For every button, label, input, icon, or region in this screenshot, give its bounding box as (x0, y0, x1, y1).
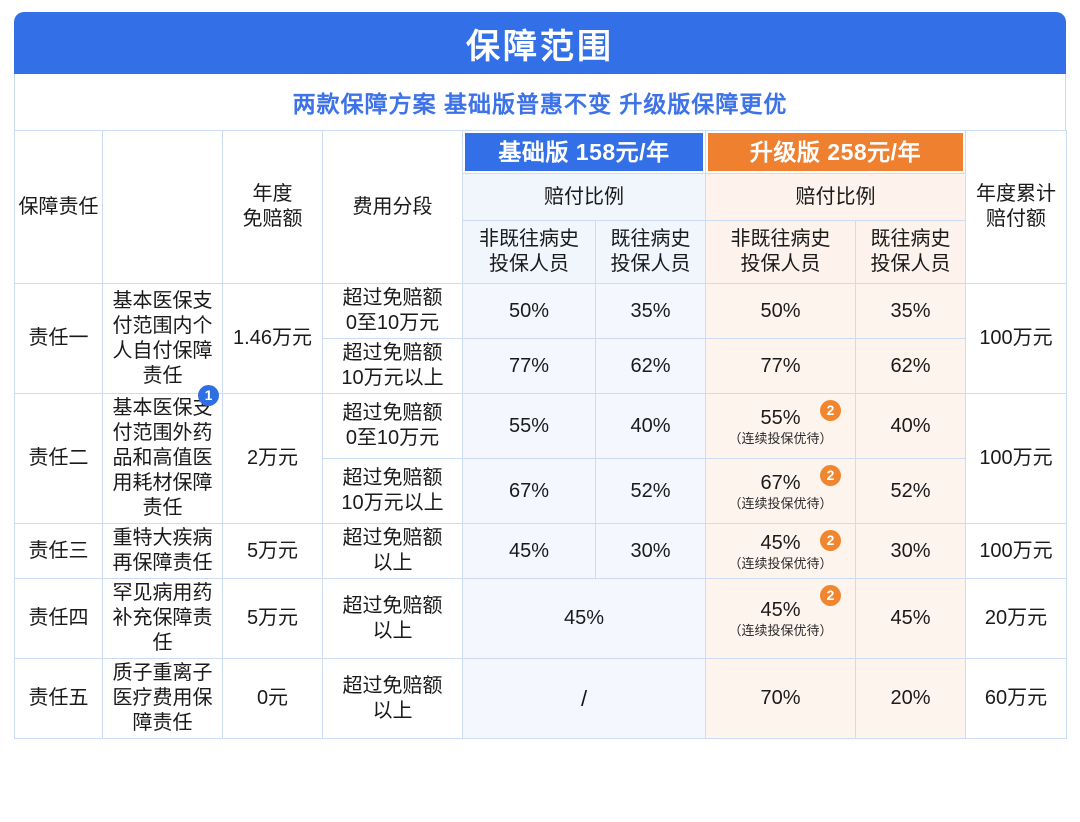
annual-deductible: 0元 (223, 659, 323, 739)
upgrade-ratio-non-prior-value: 45% (760, 599, 800, 621)
fee-segment-line-2: 以上 (373, 552, 413, 574)
annual-deductible: 1.46万元 (223, 284, 323, 394)
upgrade-ratio-non-prior-value: 55% (760, 407, 800, 429)
fee-segment-line-2: 0至10万元 (346, 427, 439, 449)
responsibility-id: 责任一 (15, 284, 103, 394)
upgrade-ratio-non-prior-value: 70% (760, 687, 800, 709)
responsibility-name: 质子重离子医疗费用保障责任 (103, 659, 223, 739)
subcol-basic-non-prior: 非既往病史 投保人员 (463, 221, 596, 284)
basic-ratio-non-prior-value: 67% (509, 480, 549, 502)
page-title-bar: 保障范围 (14, 12, 1066, 74)
basic-ratio-prior: 35% (596, 284, 706, 339)
upgrade-ratio-non-prior-note: （连续投保优待） (708, 497, 853, 511)
fee-segment-line-2: 以上 (373, 700, 413, 722)
upgrade-ratio-prior-value: 30% (890, 540, 930, 562)
label-line-1: 既往病史 (611, 228, 691, 250)
upgrade-ratio-prior-value: 40% (890, 415, 930, 437)
upgrade-ratio-prior: 62% (856, 339, 966, 394)
upgrade-ratio-prior-value: 20% (890, 687, 930, 709)
coverage-page: 保障范围 两款保障方案 基础版普惠不变 升级版保障更优 保障责任 年度 免赔额 … (0, 12, 1080, 822)
upgrade-ratio-non-prior: 45%（连续投保优待）2 (706, 524, 856, 579)
label-line-2: 投保人员 (741, 253, 821, 275)
fee-segment: 超过免赔额10万元以上 (323, 459, 463, 524)
upgrade-ratio-non-prior-note: （连续投保优待） (708, 557, 853, 571)
fee-segment-line-2: 以上 (373, 620, 413, 642)
annual-total-line-2: 赔付额 (986, 208, 1046, 230)
fee-segment: 超过免赔额0至10万元 (323, 284, 463, 339)
fee-segment-line-1: 超过免赔额 (343, 287, 443, 309)
fee-segment: 超过免赔额10万元以上 (323, 339, 463, 394)
plan-basic-label: 基础版 158元/年 (498, 138, 669, 167)
fee-segment-line-1: 超过免赔额 (343, 402, 443, 424)
upgrade-ratio-prior: 20% (856, 659, 966, 739)
fee-segment: 超过免赔额以上 (323, 659, 463, 739)
fee-segment-line-2: 10万元以上 (341, 492, 443, 514)
basic-ratio-merged: / (463, 659, 706, 739)
upgrade-ratio-non-prior: 50% (706, 284, 856, 339)
footnote-badge-2-icon: 2 (820, 465, 841, 486)
basic-ratio-non-prior-value: 50% (509, 300, 549, 322)
table-body: 责任一基本医保支付范围内个人自付保障责任1.46万元超过免赔额0至10万元50%… (15, 284, 1067, 739)
fee-segment-line-1: 超过免赔额 (343, 675, 443, 697)
table-row: 责任四罕见病用药补充保障责任5万元超过免赔额以上45%45%（连续投保优待）24… (15, 579, 1067, 659)
basic-ratio-prior: 52% (596, 459, 706, 524)
upgrade-ratio-non-prior-note: （连续投保优待） (708, 432, 853, 446)
basic-ratio-merged-value: 45% (564, 607, 604, 629)
label-line-1: 非既往病史 (479, 228, 579, 250)
basic-ratio-prior: 40% (596, 394, 706, 459)
plan-header-upgrade: 升级版 258元/年 (706, 131, 966, 174)
upgrade-ratio-non-prior: 70% (706, 659, 856, 739)
label-line-2: 投保人员 (871, 253, 951, 275)
upgrade-ratio-prior: 45% (856, 579, 966, 659)
label-line-1: 既往病史 (871, 228, 951, 250)
upgrade-ratio-non-prior: 67%（连续投保优待）2 (706, 459, 856, 524)
page-subtitle: 两款保障方案 基础版普惠不变 升级版保障更优 (293, 85, 788, 119)
upgrade-ratio-non-prior-value: 45% (760, 532, 800, 554)
annual-deductible: 5万元 (223, 524, 323, 579)
fee-segment: 超过免赔额0至10万元 (323, 394, 463, 459)
col-header-deductible: 年度 免赔额 (223, 131, 323, 284)
annual-cumulative-payout: 20万元 (966, 579, 1067, 659)
annual-deductible: 2万元 (223, 394, 323, 524)
responsibility-name: 基本医保支付范围内个人自付保障责任 (103, 284, 223, 394)
subcol-upgrade-non-prior: 非既往病史 投保人员 (706, 221, 856, 284)
basic-ratio-prior: 62% (596, 339, 706, 394)
table-row: 责任三重特大疾病再保障责任5万元超过免赔额以上45%30%45%（连续投保优待）… (15, 524, 1067, 579)
upgrade-ratio-non-prior: 55%（连续投保优待）2 (706, 394, 856, 459)
basic-ratio-non-prior: 50% (463, 284, 596, 339)
label-line-1: 非既往病史 (731, 228, 831, 250)
plan-header-basic: 基础版 158元/年 (463, 131, 706, 174)
basic-ratio-prior-value: 52% (630, 480, 670, 502)
upgrade-ratio-prior-value: 52% (890, 480, 930, 502)
col-header-responsibility-name (103, 131, 223, 284)
fee-segment: 超过免赔额以上 (323, 524, 463, 579)
upgrade-ratio-prior: 30% (856, 524, 966, 579)
ratio-header-upgrade: 赔付比例 (706, 174, 966, 221)
upgrade-ratio-non-prior-value: 50% (760, 300, 800, 322)
annual-deductible: 5万元 (223, 579, 323, 659)
label-line-2: 投保人员 (611, 253, 691, 275)
upgrade-ratio-non-prior: 77% (706, 339, 856, 394)
responsibility-name-text: 重特大疾病再保障责任 (113, 527, 213, 574)
basic-ratio-prior: 30% (596, 524, 706, 579)
footnote-badge-2-icon: 2 (820, 400, 841, 421)
annual-cumulative-payout: 100万元 (966, 394, 1067, 524)
basic-ratio-prior-value: 62% (630, 355, 670, 377)
upgrade-ratio-non-prior-value: 77% (760, 355, 800, 377)
table-head: 保障责任 年度 免赔额 费用分段 基础版 158元/年 升级版 258元/年 年… (15, 131, 1067, 284)
responsibility-id: 责任二 (15, 394, 103, 524)
upgrade-ratio-prior-value: 35% (890, 300, 930, 322)
upgrade-ratio-non-prior: 45%（连续投保优待）2 (706, 579, 856, 659)
subcol-basic-prior: 既往病史 投保人员 (596, 221, 706, 284)
annual-cumulative-payout: 60万元 (966, 659, 1067, 739)
annual-cumulative-payout: 100万元 (966, 284, 1067, 394)
upgrade-ratio-prior: 35% (856, 284, 966, 339)
upgrade-ratio-non-prior-note: （连续投保优待） (708, 624, 853, 638)
responsibility-name: 重特大疾病再保障责任 (103, 524, 223, 579)
deductible-line-1: 年度 (253, 183, 293, 205)
annual-cumulative-payout: 100万元 (966, 524, 1067, 579)
responsibility-name-text: 基本医保支付范围外药品和高值医用耗材保障责任 (113, 397, 213, 519)
page-title: 保障范围 (466, 19, 614, 68)
upgrade-ratio-prior-value: 45% (890, 607, 930, 629)
basic-ratio-merged: 45% (463, 579, 706, 659)
annual-total-line-1: 年度累计 (976, 183, 1056, 205)
table-row: 责任二基本医保支付范围外药品和高值医用耗材保障责任12万元超过免赔额0至10万元… (15, 394, 1067, 459)
responsibility-id: 责任三 (15, 524, 103, 579)
footnote-badge-2-icon: 2 (820, 585, 841, 606)
upgrade-ratio-non-prior-value: 67% (760, 472, 800, 494)
col-header-annual-total: 年度累计 赔付额 (966, 131, 1067, 284)
responsibility-name-text: 质子重离子医疗费用保障责任 (113, 662, 213, 734)
fee-segment-line-2: 0至10万元 (346, 312, 439, 334)
responsibility-name-text: 基本医保支付范围内个人自付保障责任 (113, 290, 213, 387)
basic-ratio-non-prior: 77% (463, 339, 596, 394)
basic-ratio-prior-value: 35% (630, 300, 670, 322)
responsibility-name: 基本医保支付范围外药品和高值医用耗材保障责任1 (103, 394, 223, 524)
col-header-responsibility: 保障责任 (15, 131, 103, 284)
subtitle-bar: 两款保障方案 基础版普惠不变 升级版保障更优 (14, 74, 1066, 130)
table-row: 责任一基本医保支付范围内个人自付保障责任1.46万元超过免赔额0至10万元50%… (15, 284, 1067, 339)
basic-ratio-non-prior: 45% (463, 524, 596, 579)
upgrade-ratio-prior: 52% (856, 459, 966, 524)
subcol-upgrade-prior: 既往病史 投保人员 (856, 221, 966, 284)
fee-segment-line-1: 超过免赔额 (343, 595, 443, 617)
table-row: 责任五质子重离子医疗费用保障责任0元超过免赔额以上/70%20%60万元 (15, 659, 1067, 739)
fee-segment-line-1: 超过免赔额 (343, 342, 443, 364)
col-header-segment: 费用分段 (323, 131, 463, 284)
plan-upgrade-label: 升级版 258元/年 (750, 138, 921, 167)
basic-ratio-non-prior-value: 55% (509, 415, 549, 437)
responsibility-id: 责任五 (15, 659, 103, 739)
responsibility-name: 罕见病用药补充保障责任 (103, 579, 223, 659)
deductible-line-2: 免赔额 (243, 208, 303, 230)
fee-segment: 超过免赔额以上 (323, 579, 463, 659)
basic-ratio-prior-value: 30% (630, 540, 670, 562)
basic-ratio-non-prior: 67% (463, 459, 596, 524)
basic-ratio-non-prior-value: 77% (509, 355, 549, 377)
header-row-plans: 保障责任 年度 免赔额 费用分段 基础版 158元/年 升级版 258元/年 年… (15, 131, 1067, 174)
fee-segment-line-1: 超过免赔额 (343, 467, 443, 489)
footnote-badge-2-icon: 2 (820, 530, 841, 551)
coverage-table: 保障责任 年度 免赔额 费用分段 基础版 158元/年 升级版 258元/年 年… (14, 130, 1067, 739)
ratio-header-basic: 赔付比例 (463, 174, 706, 221)
responsibility-name-text: 罕见病用药补充保障责任 (113, 582, 213, 654)
basic-ratio-non-prior: 55% (463, 394, 596, 459)
fee-segment-line-2: 10万元以上 (341, 367, 443, 389)
fee-segment-line-1: 超过免赔额 (343, 527, 443, 549)
label-line-2: 投保人员 (489, 253, 569, 275)
upgrade-ratio-prior: 40% (856, 394, 966, 459)
upgrade-ratio-prior-value: 62% (890, 355, 930, 377)
basic-ratio-non-prior-value: 45% (509, 540, 549, 562)
basic-ratio-merged-value: / (581, 686, 587, 711)
basic-ratio-prior-value: 40% (630, 415, 670, 437)
responsibility-id: 责任四 (15, 579, 103, 659)
